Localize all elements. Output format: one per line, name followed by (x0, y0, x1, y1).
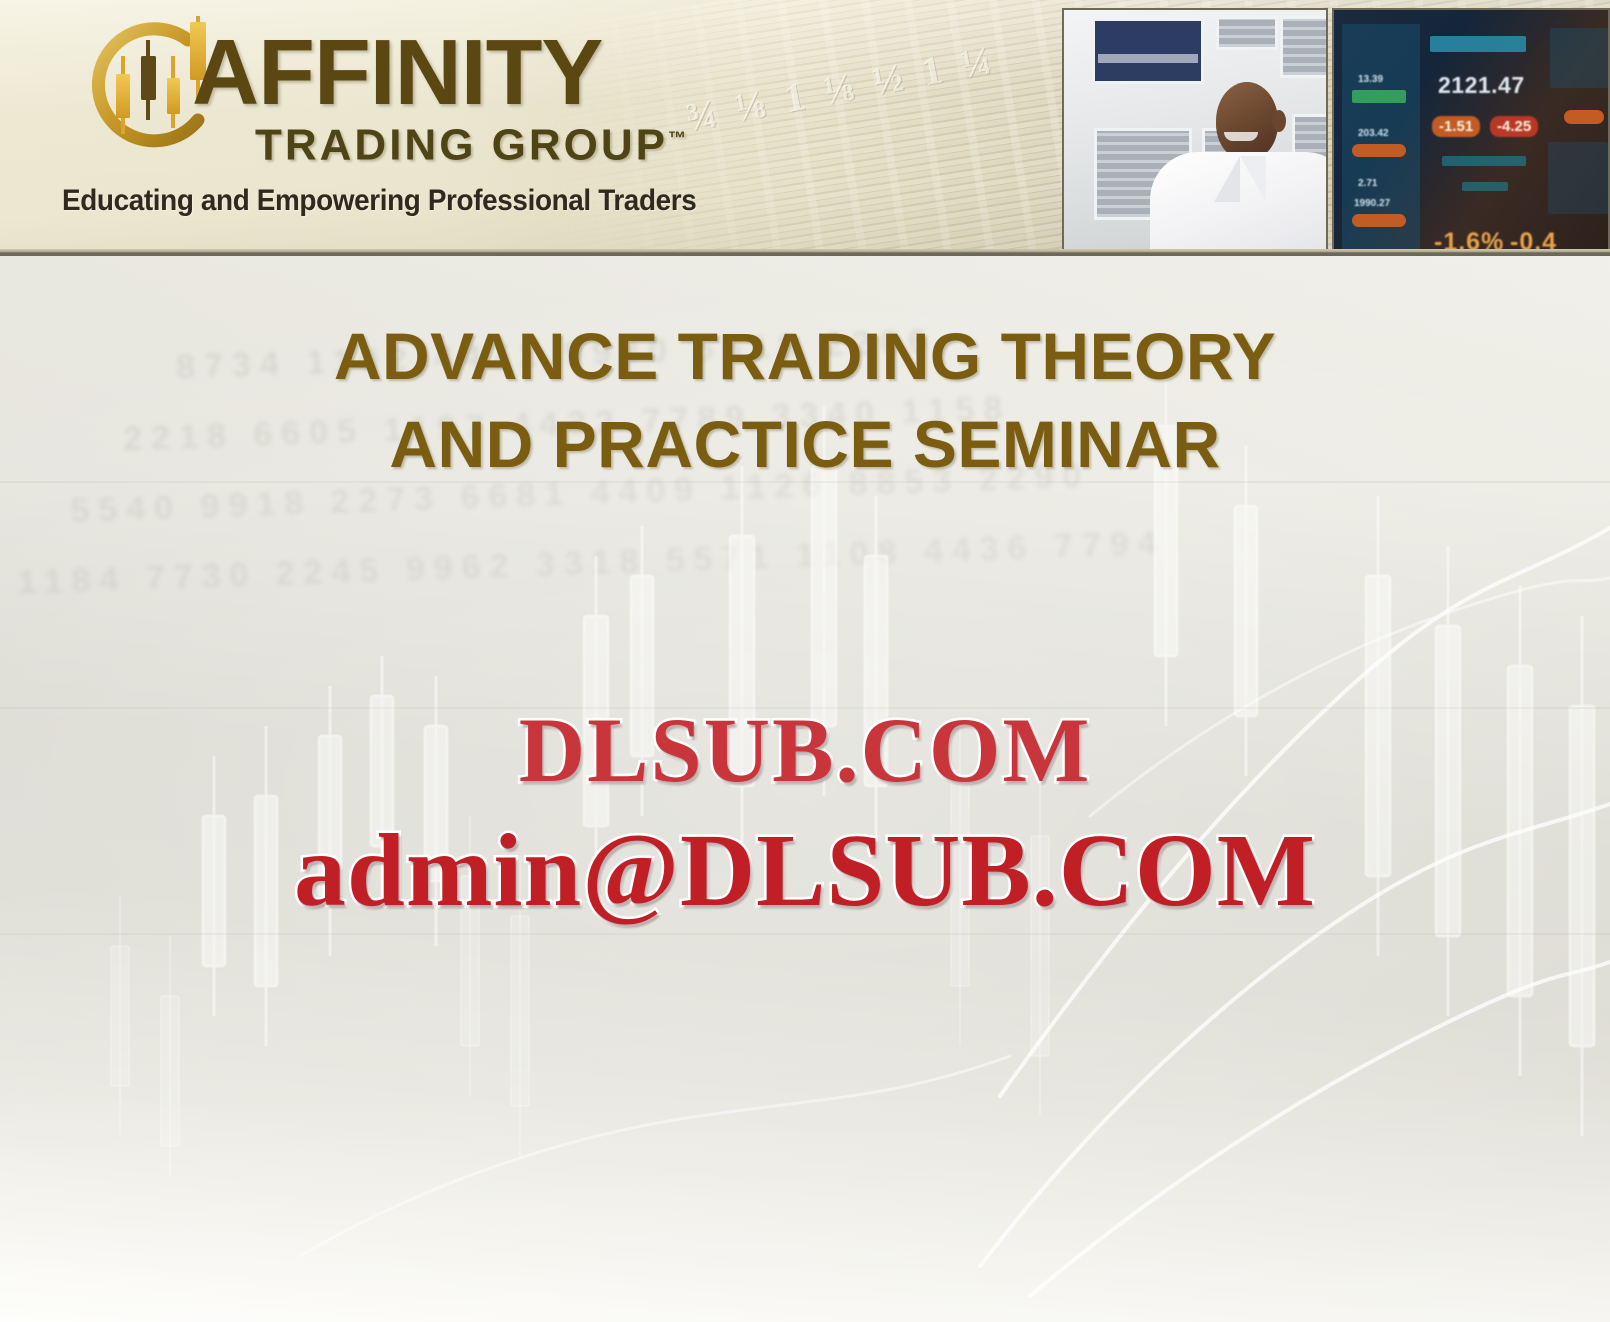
right-panel (1550, 28, 1608, 88)
presenter-head (1216, 82, 1278, 160)
change-badge: -1.51 (1432, 116, 1480, 137)
presenter-collar-right (1240, 156, 1266, 202)
header-divider (0, 249, 1610, 256)
presenter-collar-left (1214, 156, 1240, 202)
monitor-screen (1216, 16, 1278, 50)
video-thumbnail-strip: 13.39 203.42 2.71 1990.27 205.62 2121.47… (1056, 0, 1610, 256)
slide-header-band: ¾ ⅛ 1 ⅛ ½ 1 ¼ (0, 0, 1610, 256)
sub-label-chip (1462, 182, 1508, 191)
right-panel (1548, 142, 1608, 214)
market-data-photo[interactable]: 13.39 203.42 2.71 1990.27 205.62 2121.47… (1332, 8, 1610, 256)
sub-label-chip (1442, 156, 1526, 166)
brand-logo[interactable]: AFFINITY TRADING GROUP™ Educating and Em… (60, 8, 760, 238)
logo-wordmark-affinity: AFFINITY (192, 26, 602, 119)
ticker-value: 203.42 (1358, 128, 1389, 139)
page-title: ADVANCE TRADING THEORY AND PRACTICE SEMI… (0, 312, 1610, 488)
change-secondary-badge: -4.25 (1490, 116, 1538, 137)
monitor-band (1098, 54, 1198, 63)
ticker-value: 2.71 (1358, 178, 1377, 189)
trademark-icon: ™ (668, 128, 686, 148)
logo-subwordmark-trading-group: TRADING GROUP™ (255, 116, 686, 168)
index-value: 2121.47 (1438, 72, 1525, 99)
page-title-line-2: AND PRACTICE SEMINAR (0, 400, 1610, 488)
presentation-slide: ¾ ⅛ 1 ⅛ ½ 1 ¼ (0, 0, 1610, 1322)
logo-tagline: Educating and Empowering Professional Tr… (62, 184, 696, 218)
monitor-screen (1280, 16, 1328, 78)
watermark-site: DLSUB.COM (0, 697, 1610, 803)
ticker-badge-up (1352, 90, 1406, 103)
ticker-badge-down (1352, 144, 1406, 157)
presenter-ear (1272, 110, 1286, 132)
right-badge (1564, 110, 1604, 124)
watermark-email: admin@DLSUB.COM (0, 811, 1610, 930)
headline-chip (1430, 36, 1526, 52)
presenter-smile (1224, 132, 1258, 141)
ticker-value: 13.39 (1358, 74, 1383, 85)
presenter-photo[interactable] (1062, 8, 1328, 256)
logo-subwordmark-text: TRADING GROUP (255, 121, 668, 170)
monitor-screen (1092, 18, 1204, 84)
page-title-line-1: ADVANCE TRADING THEORY (0, 312, 1610, 400)
ticker-badge-down (1352, 214, 1406, 227)
ticker-value: 1990.27 (1354, 198, 1390, 209)
